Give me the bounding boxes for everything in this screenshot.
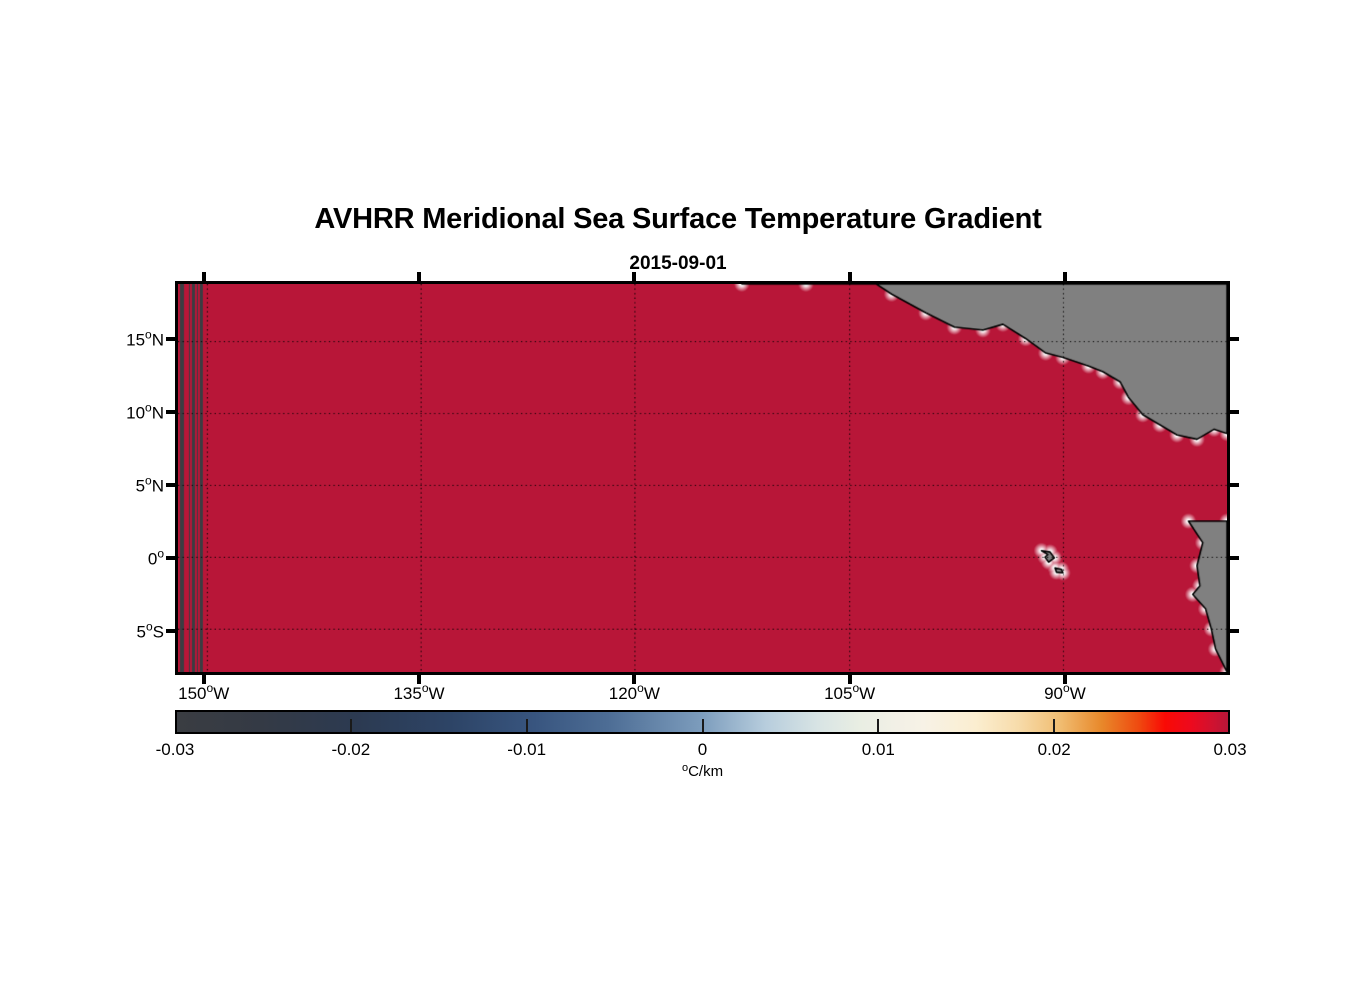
colorbar-tick-label: 0.02	[1038, 740, 1071, 760]
y-tick-label: 5oN	[136, 474, 164, 497]
x-tick-label: 120oW	[609, 681, 660, 704]
x-tick-mark	[632, 272, 636, 282]
y-tick-mark	[166, 337, 176, 341]
x-tick-mark	[848, 272, 852, 282]
x-tick-label: 90oW	[1044, 681, 1086, 704]
y-tick-label: 0o	[148, 547, 164, 570]
colorbar-tick-label: -0.01	[507, 740, 546, 760]
map-axes	[175, 281, 1230, 675]
x-tick-mark	[417, 674, 421, 684]
x-tick-label: 150oW	[178, 681, 229, 704]
y-tick-mark	[166, 410, 176, 414]
x-tick-mark	[202, 674, 206, 684]
x-tick-mark	[632, 674, 636, 684]
x-tick-mark	[417, 272, 421, 282]
x-axis-tick-labels: 150oW135oW120oW105oW90oW	[175, 681, 1230, 707]
x-tick-mark	[848, 674, 852, 684]
colorbar-tick-label: -0.03	[156, 740, 195, 760]
colorbar-tick-label: 0	[698, 740, 707, 760]
colorbar-unit-label: oC/km	[175, 762, 1230, 780]
y-tick-label: 10oN	[126, 401, 164, 424]
colorbar-tick-labels: -0.03-0.02-0.0100.010.020.03	[175, 740, 1230, 764]
colorbar-tick-label: -0.02	[331, 740, 370, 760]
y-axis-tick-labels: 15oN10oN5oN0o5oS	[100, 281, 164, 675]
colorbar-tick-label: 0.03	[1213, 740, 1246, 760]
page-title: AVHRR Meridional Sea Surface Temperature…	[0, 203, 1356, 236]
y-tick-mark	[1229, 629, 1239, 633]
y-tick-label: 15oN	[126, 328, 164, 351]
y-tick-mark	[166, 483, 176, 487]
x-tick-label: 105oW	[824, 681, 875, 704]
x-tick-mark	[1063, 272, 1067, 282]
figure-canvas: AVHRR Meridional Sea Surface Temperature…	[0, 0, 1356, 1000]
y-tick-mark	[166, 556, 176, 560]
y-tick-label: 5oS	[137, 620, 165, 643]
x-tick-mark	[202, 272, 206, 282]
y-tick-mark	[1229, 556, 1239, 560]
y-tick-mark	[1229, 410, 1239, 414]
y-tick-mark	[1229, 337, 1239, 341]
x-tick-mark	[1063, 674, 1067, 684]
colorbar-tick-label: 0.01	[862, 740, 895, 760]
coastline-land-layer	[178, 284, 1227, 672]
y-tick-mark	[1229, 483, 1239, 487]
x-tick-label: 135oW	[393, 681, 444, 704]
y-tick-mark	[166, 629, 176, 633]
colorbar	[175, 710, 1230, 734]
